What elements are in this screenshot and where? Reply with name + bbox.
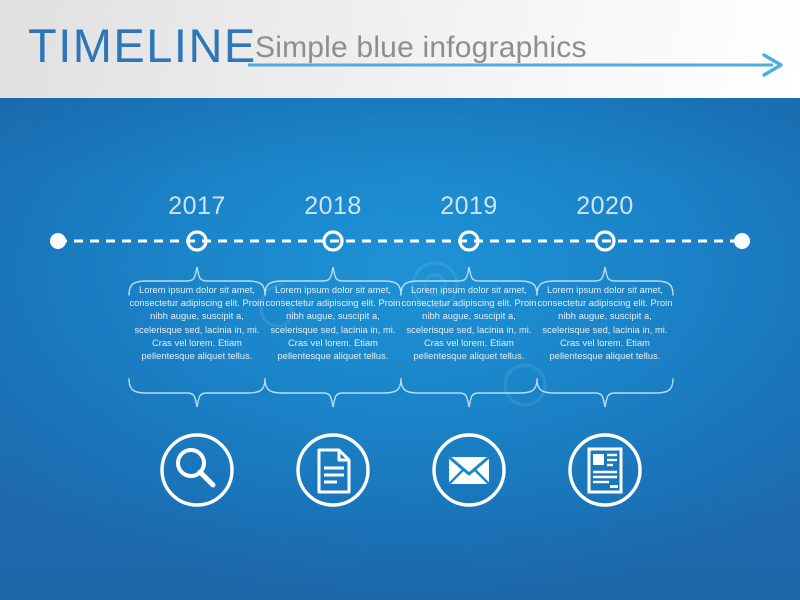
- milestone-description: Lorem ipsum dolor sit amet, consectetur …: [265, 284, 401, 363]
- timeline-column-2020[interactable]: 2020 Lorem ipsum dolor sit amet, consect…: [525, 98, 685, 600]
- document-icon[interactable]: [283, 420, 383, 520]
- envelope-icon[interactable]: [419, 420, 519, 520]
- milestone-description: Lorem ipsum dolor sit amet, consectetur …: [537, 284, 673, 363]
- header-band: TIMELINE Simple blue infographics: [0, 0, 800, 100]
- magnifier-icon[interactable]: [147, 420, 247, 520]
- infographic-canvas: TIMELINE Simple blue infographics 2017: [0, 0, 800, 600]
- milestone-description: Lorem ipsum dolor sit amet, consectetur …: [129, 284, 265, 363]
- milestone-year-label: 2020: [525, 192, 685, 221]
- milestone-description: Lorem ipsum dolor sit amet, consectetur …: [401, 284, 537, 363]
- page-title: TIMELINE: [28, 20, 257, 72]
- arrow-right-icon: [248, 50, 788, 80]
- report-icon[interactable]: [555, 420, 655, 520]
